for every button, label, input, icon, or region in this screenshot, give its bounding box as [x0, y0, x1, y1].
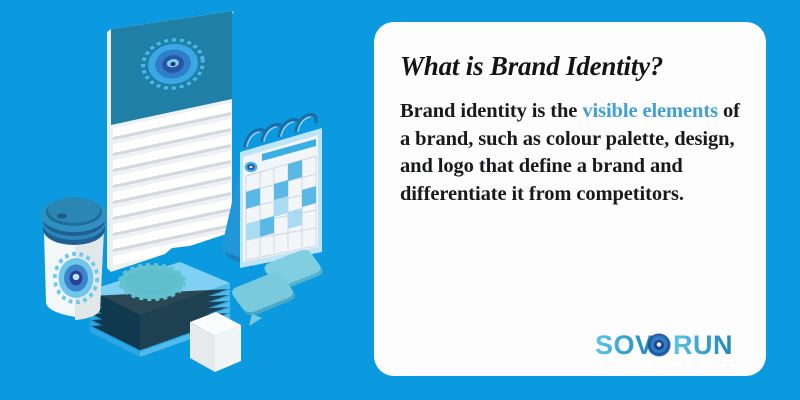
calendar-brand-mark	[245, 162, 258, 173]
isometric-branding-desk-illustration	[0, 0, 370, 400]
poster-canvas: What is Brand Identity? Brand identity i…	[0, 0, 800, 400]
card-body-text: Brand identity is the visible elements o…	[400, 98, 740, 210]
body-lead: Brand identity is the	[400, 100, 582, 122]
coffee-cup	[41, 197, 107, 320]
content-card: What is Brand Identity? Brand identity i…	[374, 22, 766, 376]
paper-stack-brand-mark	[120, 265, 184, 299]
page-title: What is Brand Identity?	[400, 52, 740, 82]
body-highlight: visible elements	[582, 100, 718, 122]
logo-text-before: SOV	[595, 330, 654, 360]
logo-text-after: RUN	[673, 330, 733, 360]
document-poster	[107, 11, 234, 280]
brand-logo[interactable]: SOV RUN	[595, 330, 740, 360]
eye-target-icon	[648, 334, 671, 357]
